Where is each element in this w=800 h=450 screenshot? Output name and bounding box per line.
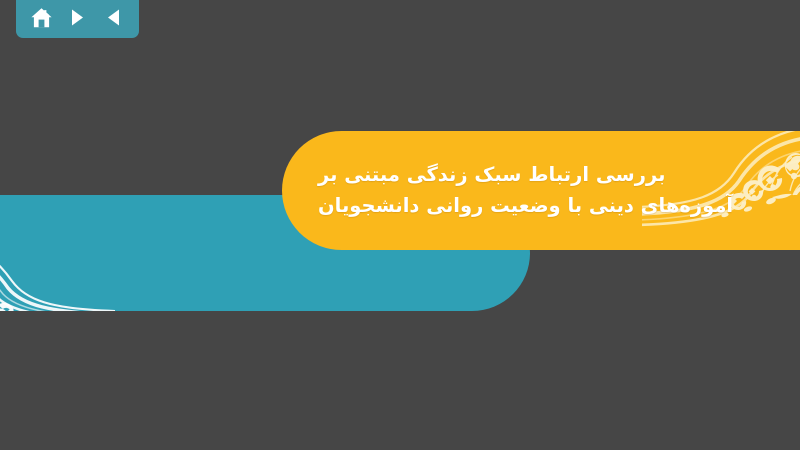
navigation-bar — [16, 0, 139, 38]
title-line-2: آموزه‌های دینی با وضعیت روانی دانشجویان — [318, 192, 759, 220]
orange-title-band: بررسی ارتباط سبک زندگی مبتنی بر آموزه‌ها… — [282, 131, 800, 250]
title-line-1: بررسی ارتباط سبک زندگی مبتنی بر — [318, 161, 665, 189]
home-button[interactable] — [29, 5, 55, 31]
forward-button[interactable] — [65, 5, 91, 31]
triangle-left-icon — [105, 8, 122, 27]
slide-title: بررسی ارتباط سبک زندگی مبتنی بر آموزه‌ها… — [318, 131, 794, 250]
triangle-right-icon — [69, 8, 86, 27]
presentation-slide: بررسی ارتباط سبک زندگی مبتنی بر آموزه‌ها… — [0, 0, 800, 450]
back-button[interactable] — [100, 5, 126, 31]
home-icon — [30, 7, 53, 29]
arabesque-corner-ornament-teal — [0, 195, 115, 311]
